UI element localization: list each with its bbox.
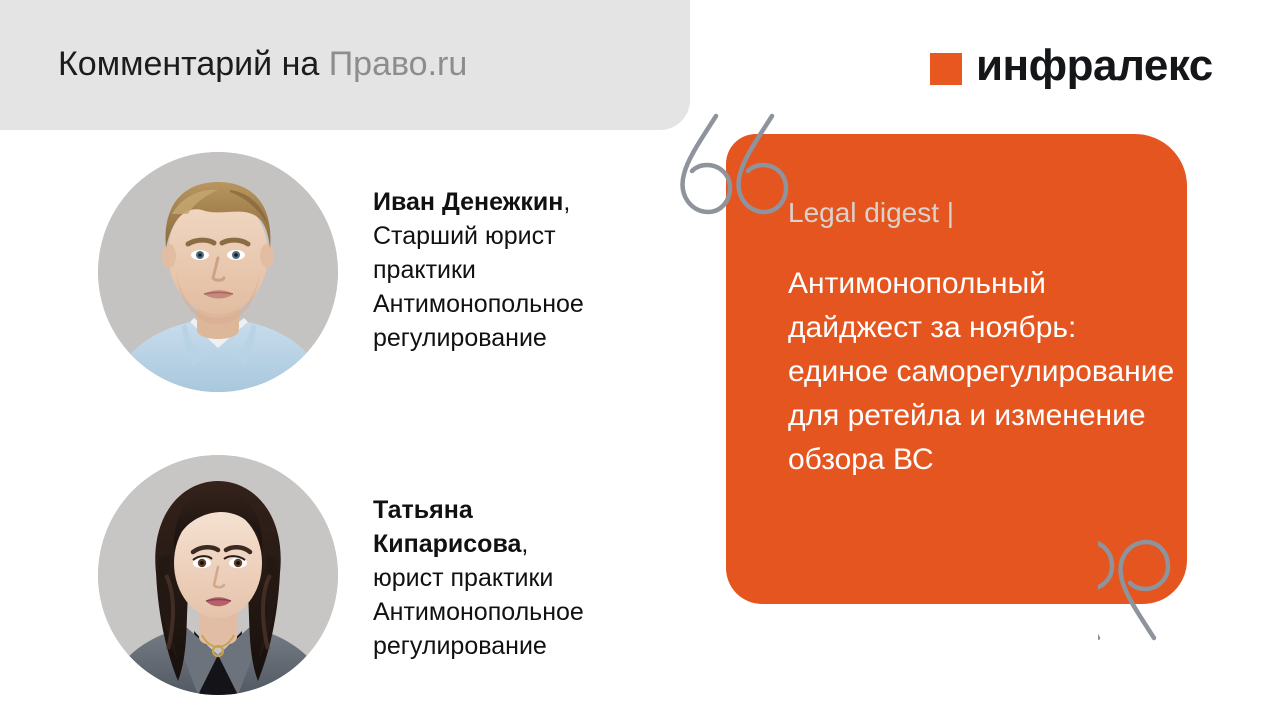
person-name-row: Иван Денежкин, (373, 185, 673, 219)
avatar (98, 152, 338, 392)
person-name-line-2: Кипарисова (373, 530, 521, 558)
person-card-1: Иван Денежкин, Старший юрист практики Ан… (98, 152, 673, 392)
header-bar: Комментарий на Право.ru (0, 0, 690, 130)
portrait-image-ivan (98, 152, 338, 392)
page-title-source: Право.ru (329, 45, 468, 83)
person-name-line-1: Татьяна (373, 493, 673, 527)
card-title: Антимонопольный дайджест за ноябрь: един… (788, 262, 1178, 482)
digest-card: Legal digest | Антимонопольный дайджест … (726, 134, 1187, 604)
person-role-line: регулирование (373, 629, 673, 663)
person-info: Иван Денежкин, Старший юрист практики Ан… (373, 152, 673, 355)
page-title-primary: Комментарий на (58, 45, 329, 83)
person-info: Татьяна Кипарисова, юрист практики Антим… (373, 455, 673, 663)
person-name-suffix: , (521, 530, 528, 558)
logo-wordmark: инфралекс (976, 44, 1213, 88)
logo-square-icon (930, 53, 962, 85)
person-name-row: Кипарисова, (373, 527, 673, 561)
card-kicker: Legal digest | (788, 196, 954, 230)
person-role-line: регулирование (373, 321, 673, 355)
brand-logo: инфралекс (930, 44, 1213, 88)
person-role-line: Антимонопольное (373, 287, 673, 321)
person-name-suffix: , (563, 188, 570, 216)
avatar (98, 455, 338, 695)
person-card-2: Татьяна Кипарисова, юрист практики Антим… (98, 455, 673, 695)
person-role-line: Антимонопольное (373, 595, 673, 629)
person-name: Иван Денежкин (373, 188, 563, 216)
page-title: Комментарий на Право.ru (58, 43, 467, 85)
person-role-line: юрист практики (373, 561, 673, 595)
person-role-line: Старший юрист (373, 219, 673, 253)
portrait-image-tatyana (98, 455, 338, 695)
person-role-line: практики (373, 253, 673, 287)
